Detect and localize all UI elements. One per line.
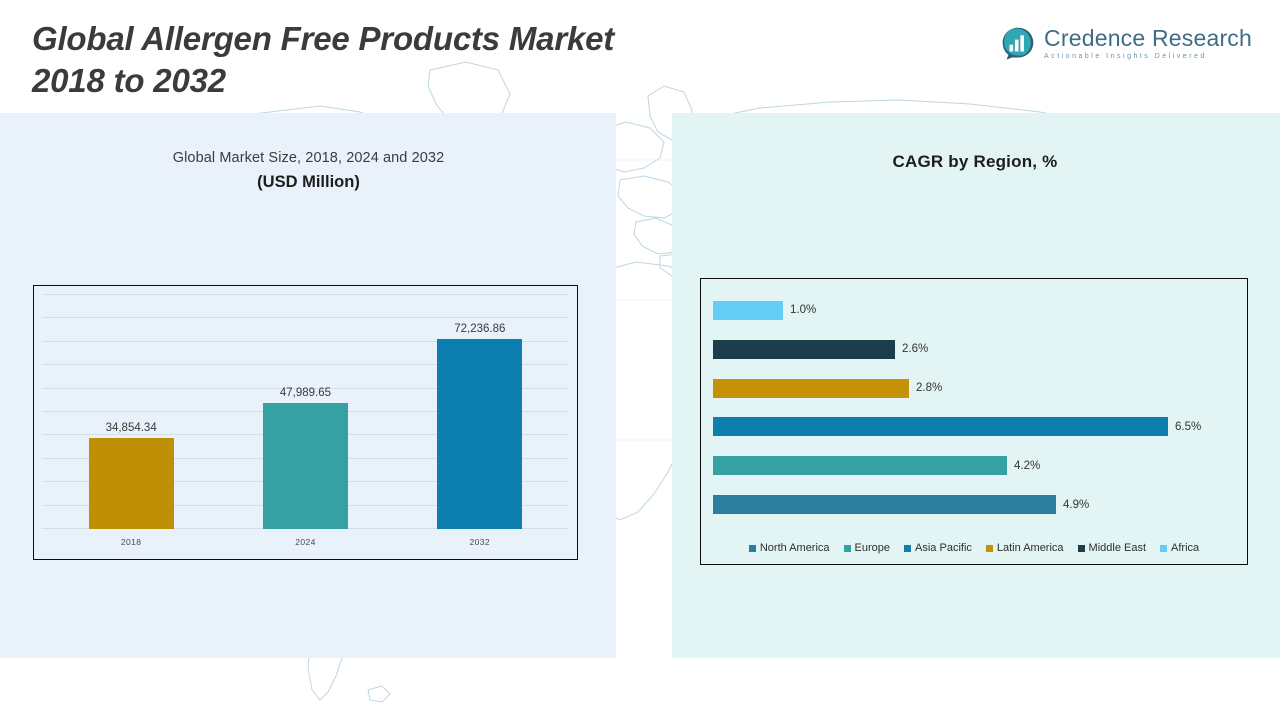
bar-row: 2.6% — [713, 340, 1237, 359]
brand-logo: Credence Research Actionable Insights De… — [1001, 26, 1252, 60]
bar-value-label: 2.6% — [902, 343, 928, 355]
infographic-canvas: Global Allergen Free Products Market 201… — [0, 0, 1280, 720]
bar-row: 4.9% — [713, 495, 1237, 514]
legend-color-swatch — [1078, 545, 1085, 552]
bar-chart-bubble-icon — [1001, 26, 1035, 60]
legend-label: Asia Pacific — [915, 542, 972, 554]
bar[interactable] — [437, 339, 522, 529]
legend-item[interactable]: Asia Pacific — [904, 542, 972, 554]
bar[interactable] — [713, 417, 1168, 436]
right-chart-title-text: CAGR by Region, % — [700, 152, 1250, 172]
logo-tagline: Actionable Insights Delivered — [1044, 53, 1252, 60]
page-title-line-1: Global Allergen Free Products Market — [32, 18, 832, 60]
horizontal-bars-plot-area: 1.0%2.6%2.8%6.5%4.2%4.9% — [713, 291, 1237, 524]
right-chart-title: CAGR by Region, % — [700, 152, 1250, 172]
category-tick-label: 2018 — [50, 537, 212, 547]
bar[interactable] — [713, 379, 909, 398]
legend-color-swatch — [844, 545, 851, 552]
legend-color-swatch — [749, 545, 756, 552]
category-tick-label: 2032 — [399, 537, 561, 547]
market-size-bar-chart: 34,854.3447,989.6572,236.86 201820242032 — [33, 285, 578, 560]
legend-label: Latin America — [997, 542, 1064, 554]
legend-label: Europe — [855, 542, 890, 554]
legend-label: Middle East — [1089, 542, 1146, 554]
bar-row: 2.8% — [713, 379, 1237, 398]
bar-value-label: 72,236.86 — [454, 323, 505, 335]
bar-group: 34,854.34 — [50, 294, 212, 529]
legend-item[interactable]: North America — [749, 542, 830, 554]
category-tick-label: 2024 — [224, 537, 386, 547]
page-title: Global Allergen Free Products Market 201… — [32, 18, 832, 102]
bar-value-label: 47,989.65 — [280, 387, 331, 399]
page-title-line-2: 2018 to 2032 — [32, 60, 832, 102]
legend-item[interactable]: Latin America — [986, 542, 1064, 554]
bar[interactable] — [713, 456, 1007, 475]
bar[interactable] — [713, 495, 1056, 514]
category-axis: 201820242032 — [44, 531, 567, 553]
bar-group: 47,989.65 — [224, 294, 386, 529]
bar-value-label: 2.8% — [916, 382, 942, 394]
bar-group: 72,236.86 — [399, 294, 561, 529]
vertical-bars-plot-area: 34,854.3447,989.6572,236.86 — [44, 294, 567, 529]
bar-row: 6.5% — [713, 417, 1237, 436]
cagr-by-region-bar-chart: 1.0%2.6%2.8%6.5%4.2%4.9% North AmericaEu… — [700, 278, 1248, 565]
left-chart-title: Global Market Size, 2018, 2024 and 2032 … — [56, 150, 561, 192]
bar[interactable] — [713, 340, 895, 359]
logo-text-block: Credence Research Actionable Insights De… — [1044, 26, 1252, 59]
bar[interactable] — [713, 301, 783, 320]
legend-color-swatch — [986, 545, 993, 552]
left-chart-title-line-2: (USD Million) — [56, 173, 561, 192]
bar-value-label: 4.2% — [1014, 460, 1040, 472]
legend-label: North America — [760, 542, 830, 554]
legend-item[interactable]: Middle East — [1078, 542, 1146, 554]
bar-row: 4.2% — [713, 456, 1237, 475]
legend-label: Africa — [1171, 542, 1199, 554]
bar[interactable] — [89, 438, 174, 529]
bar-value-label: 6.5% — [1175, 421, 1201, 433]
bar-row: 1.0% — [713, 301, 1237, 320]
logo-name: Credence Research — [1044, 26, 1252, 50]
bar-value-label: 4.9% — [1063, 499, 1089, 511]
legend-item[interactable]: Europe — [844, 542, 890, 554]
left-chart-title-line-1: Global Market Size, 2018, 2024 and 2032 — [56, 150, 561, 166]
bar-value-label: 34,854.34 — [106, 422, 157, 434]
legend-item[interactable]: Africa — [1160, 542, 1199, 554]
chart-legend: North AmericaEuropeAsia PacificLatin Ame… — [701, 542, 1247, 554]
legend-color-swatch — [1160, 545, 1167, 552]
bar[interactable] — [263, 403, 348, 529]
bar-value-label: 1.0% — [790, 304, 816, 316]
legend-color-swatch — [904, 545, 911, 552]
